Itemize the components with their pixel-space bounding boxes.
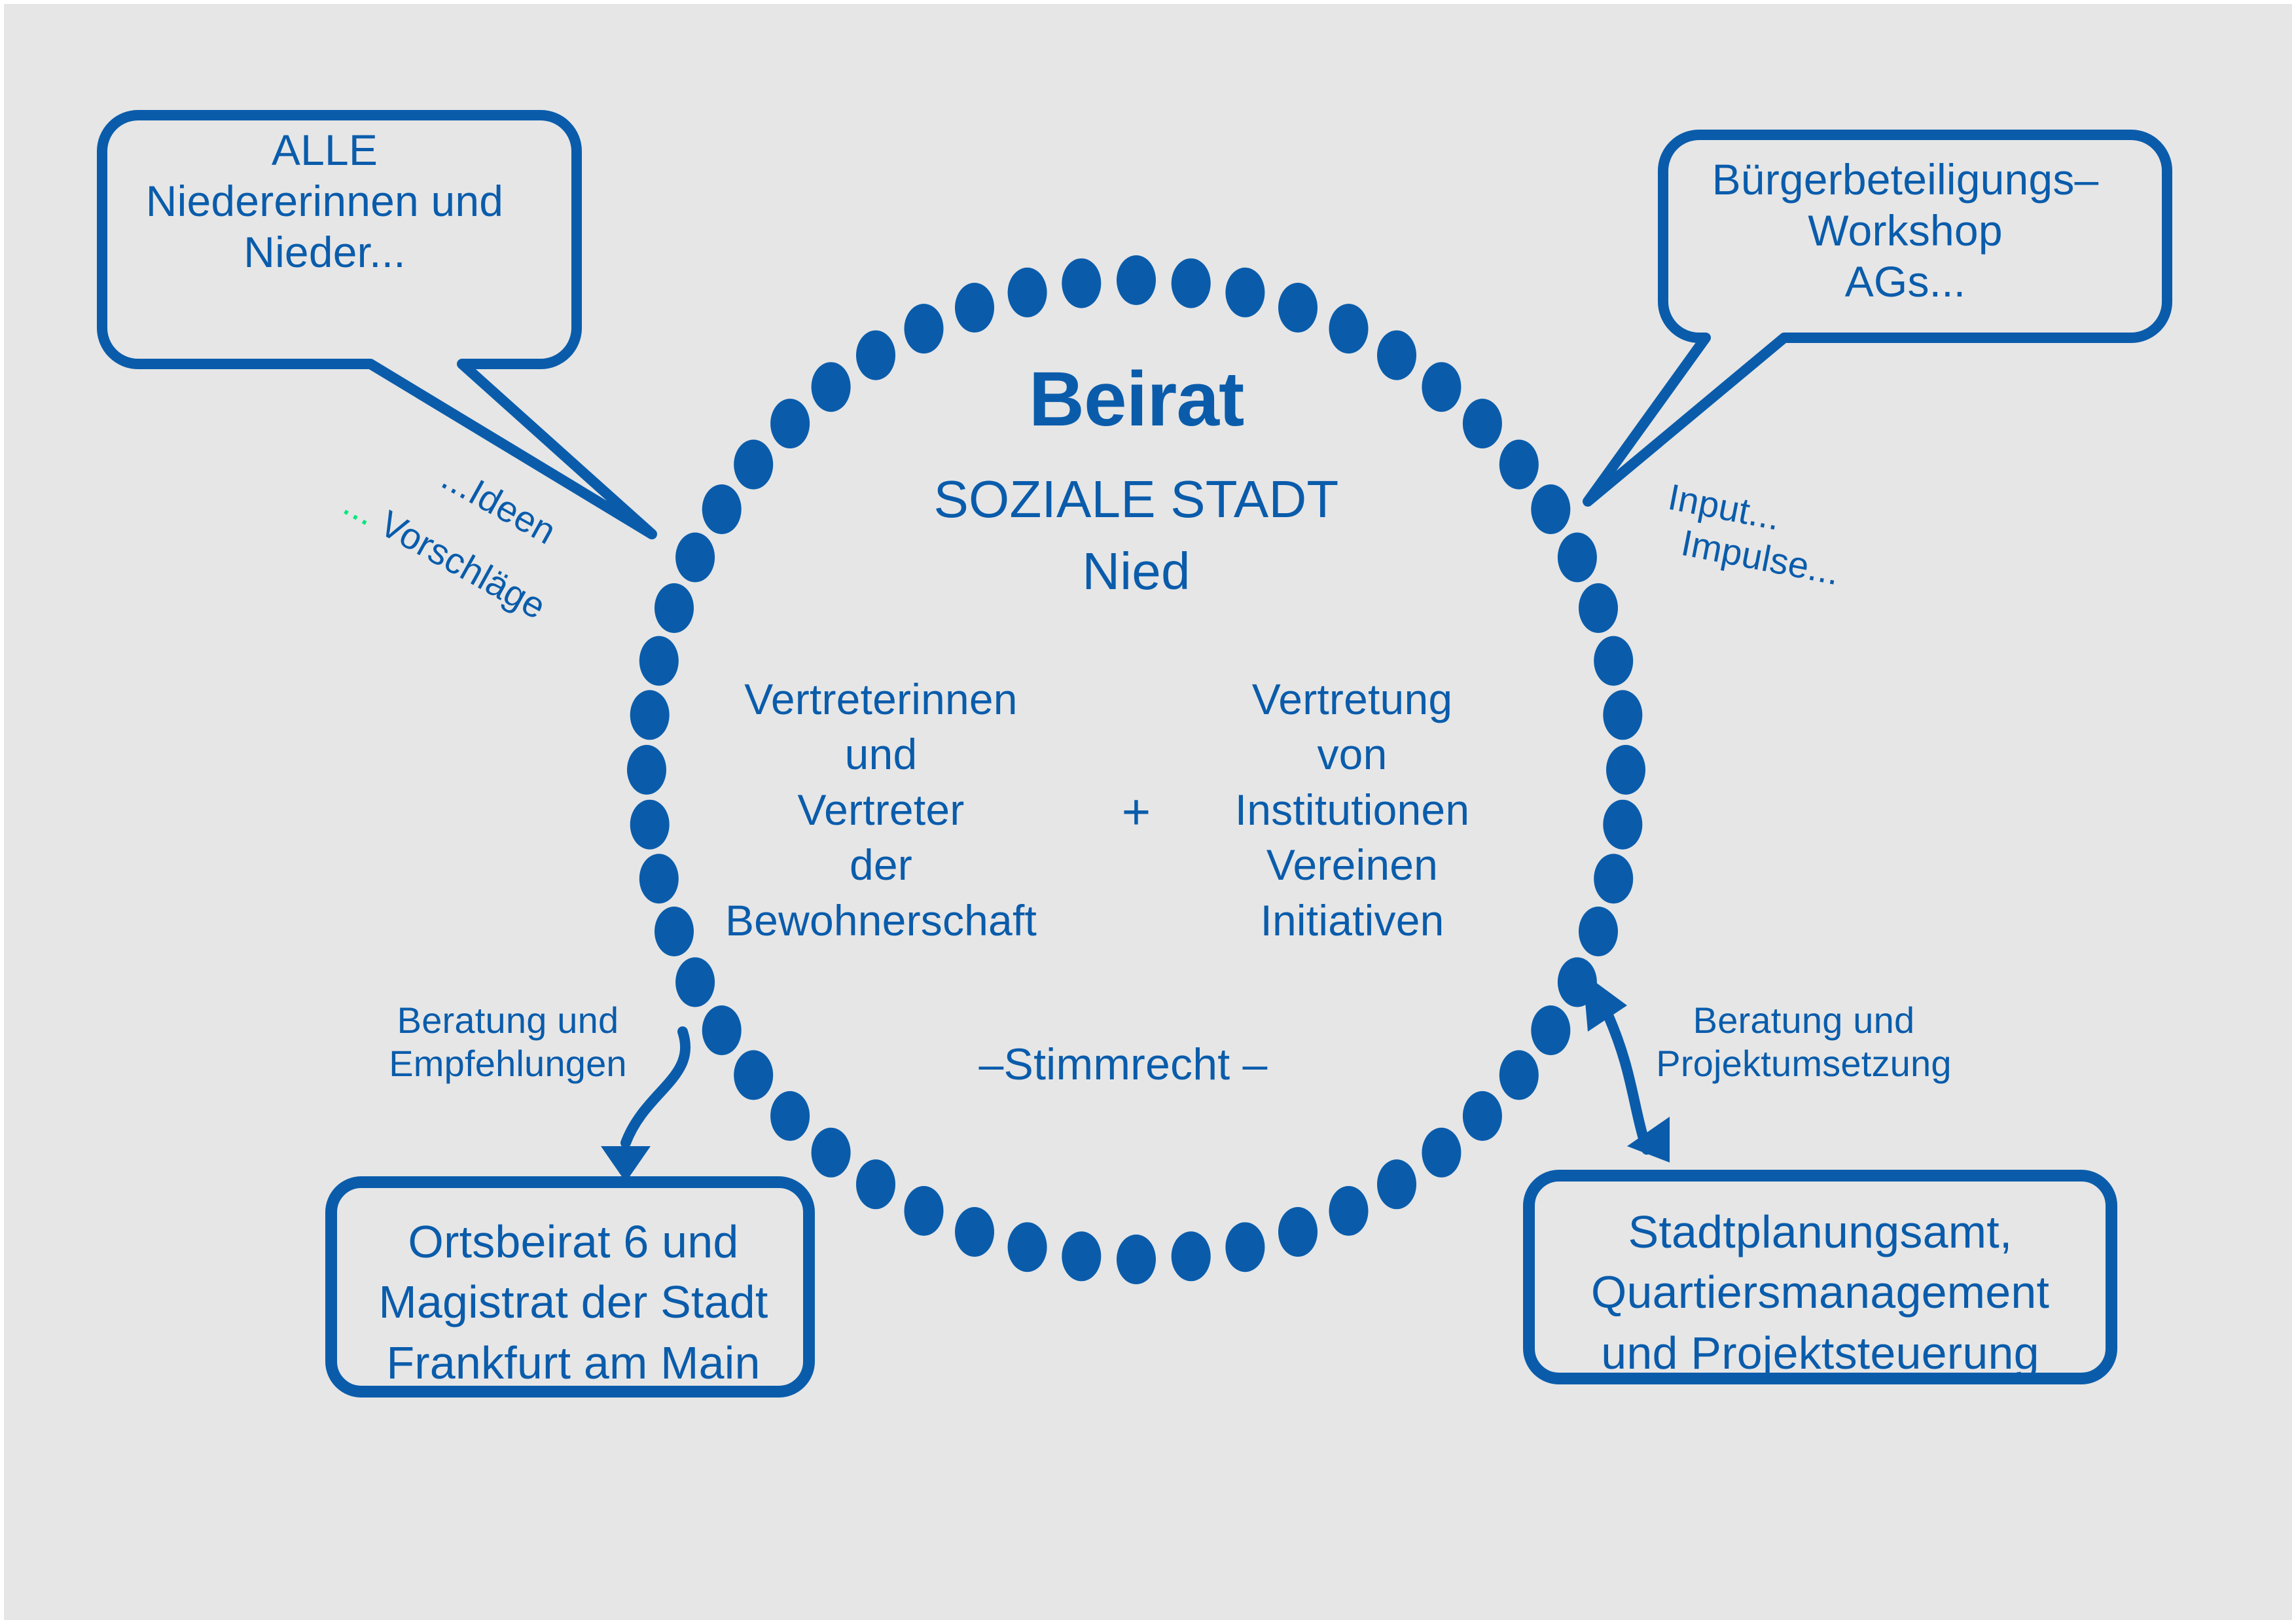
box-bottom-left-label: Ortsbeirat 6 und Magistrat der Stadt Fra… — [344, 1212, 802, 1393]
ring-dot — [905, 304, 944, 353]
ring-dot — [1062, 259, 1101, 308]
ring-dot — [702, 484, 742, 534]
ring-dot — [675, 958, 715, 1007]
ring-dot — [1463, 399, 1502, 448]
ring-dot — [1172, 259, 1211, 308]
ring-dot — [1531, 1005, 1570, 1055]
ring-dot — [655, 583, 694, 633]
ring-dot — [905, 1186, 944, 1236]
ring-dot — [1558, 533, 1597, 583]
circle-subtitle-line2: Nied — [816, 541, 1457, 602]
annotation-beratung-empfehlungen: Beratung und Empfehlungen — [370, 999, 645, 1085]
ring-dot — [639, 636, 679, 686]
ring-dot — [955, 1207, 994, 1257]
ring-dot — [1225, 1222, 1265, 1272]
bubble-left-label: ALLE Niedererinnen und Nieder... — [96, 125, 554, 278]
ring-dot — [812, 1128, 851, 1178]
ring-dot — [1579, 583, 1618, 633]
ring-dot — [1463, 1091, 1502, 1141]
ring-dot — [655, 907, 694, 956]
ring-dot — [1062, 1231, 1101, 1281]
ring-dot — [1558, 958, 1597, 1007]
ring-dot — [1531, 484, 1570, 534]
ring-dot — [1603, 690, 1642, 740]
ring-dot — [1499, 440, 1539, 490]
ring-dot — [955, 283, 994, 333]
ring-dot — [734, 440, 773, 490]
ring-dot — [630, 690, 670, 740]
ring-dot — [702, 1005, 742, 1055]
annotation-beratung-projektumsetzung: Beratung und Projektumsetzung — [1647, 999, 1961, 1085]
circle-plus-symbol: + — [1077, 783, 1195, 842]
ring-dot — [630, 800, 670, 850]
ring-dot — [1278, 1207, 1318, 1257]
ring-dot — [1329, 1186, 1369, 1236]
ring-dot — [1377, 1159, 1416, 1209]
bubble-right-label: Bürgerbeteiligungs– Workshop AGs... — [1679, 154, 2131, 308]
circle-title: Beirat — [816, 354, 1457, 445]
ring-dot — [1329, 304, 1369, 353]
ring-dot — [1594, 854, 1633, 903]
ring-dot — [1594, 636, 1633, 686]
circle-footer-stimmrecht: –Stimmrecht – — [927, 1038, 1319, 1091]
ring-dot — [1008, 268, 1047, 317]
ring-dot — [1278, 283, 1318, 333]
ring-dot — [675, 533, 715, 583]
ring-dot — [1172, 1231, 1211, 1281]
ring-dot — [639, 854, 679, 903]
circle-left-column: Vertreterinnen und Vertreter der Bewohne… — [698, 672, 1064, 948]
ring-dot — [1117, 255, 1156, 305]
ring-dot — [1422, 1128, 1461, 1178]
ring-dot — [1603, 800, 1642, 850]
circle-subtitle-line1: SOZIALE STADT — [816, 469, 1457, 530]
ring-dot — [1606, 745, 1645, 795]
ring-dot — [770, 399, 810, 448]
ring-dot — [1579, 907, 1618, 956]
ring-dot — [627, 745, 666, 795]
ring-dot — [856, 1159, 895, 1209]
ring-dot — [1225, 268, 1265, 317]
box-bottom-right-label: Stadtplanungsamt, Quartiersmanagement un… — [1545, 1202, 2095, 1383]
circle-right-column: Vertretung von Institutionen Vereinen In… — [1195, 672, 1509, 948]
ring-dot — [1117, 1235, 1156, 1284]
ring-dot — [770, 1091, 810, 1141]
ring-dot — [1499, 1050, 1539, 1100]
ring-dot — [734, 1050, 773, 1100]
ring-dot — [1008, 1222, 1047, 1272]
diagram-canvas: ALLE Niedererinnen und Nieder... Bürgerb… — [0, 0, 2296, 1624]
